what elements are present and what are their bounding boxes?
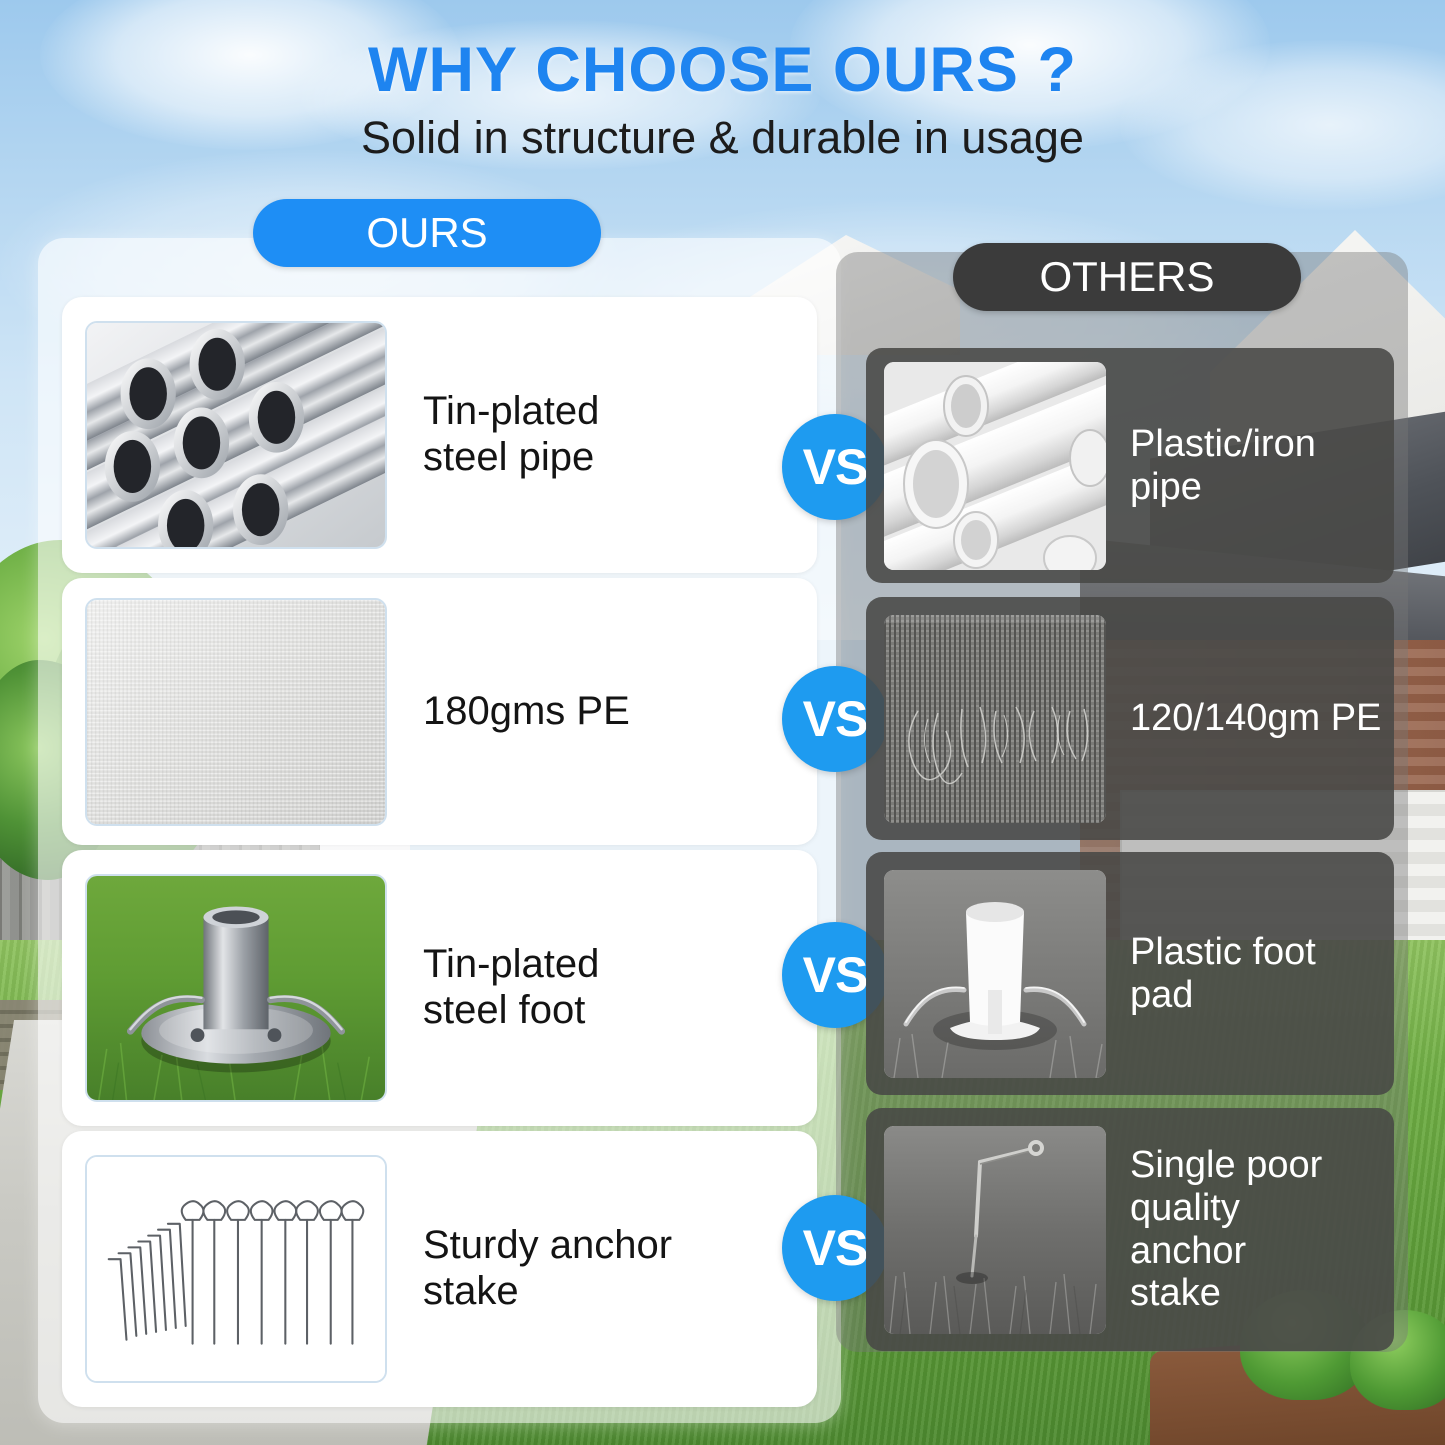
frayed-mesh-fabric-photo bbox=[884, 615, 1106, 823]
page-subtitle: Solid in structure & durable in usage bbox=[0, 112, 1445, 164]
single-bent-stake-in-grass-photo bbox=[884, 1126, 1106, 1334]
plastic-foot-pad-on-grass-photo bbox=[884, 870, 1106, 1078]
others-row-single-stake: Single poor quality anchor stake bbox=[866, 1108, 1394, 1351]
steel-pipes-photo bbox=[85, 321, 387, 549]
others-label-mesh-fabric: 120/140gm PE bbox=[1130, 697, 1381, 740]
smooth-pe-fabric-photo bbox=[85, 598, 387, 826]
ours-label-steel-foot: Tin-plated steel foot bbox=[423, 942, 599, 1033]
others-label-plastic-pipe: Plastic/iron pipe bbox=[1130, 423, 1316, 509]
ours-column-header: OURS bbox=[253, 199, 601, 267]
others-row-mesh-fabric: 120/140gm PE bbox=[866, 597, 1394, 840]
others-column-header: OTHERS bbox=[953, 243, 1301, 311]
anchor-stakes-set-photo bbox=[85, 1155, 387, 1383]
others-label-plastic-foot: Plastic foot pad bbox=[1130, 931, 1316, 1017]
white-pvc-pipes-photo bbox=[884, 362, 1106, 570]
ours-row-pe-fabric: 180gms PE bbox=[62, 578, 817, 845]
ours-label-pe-fabric: 180gms PE bbox=[423, 689, 630, 735]
others-label-single-stake: Single poor quality anchor stake bbox=[1130, 1144, 1322, 1316]
ours-row-steel-pipe: Tin-plated steel pipe bbox=[62, 297, 817, 573]
others-row-plastic-foot: Plastic foot pad bbox=[866, 852, 1394, 1095]
ours-label-anchor-stake: Sturdy anchor stake bbox=[423, 1223, 672, 1314]
steel-foot-plate-on-grass-photo bbox=[85, 874, 387, 1102]
ours-label-steel-pipe: Tin-plated steel pipe bbox=[423, 389, 599, 480]
ours-row-steel-foot: Tin-plated steel foot bbox=[62, 850, 817, 1126]
others-row-plastic-pipe: Plastic/iron pipe bbox=[866, 348, 1394, 583]
page-title: WHY CHOOSE OURS ? bbox=[0, 34, 1445, 106]
ours-row-anchor-stake: Sturdy anchor stake bbox=[62, 1131, 817, 1407]
